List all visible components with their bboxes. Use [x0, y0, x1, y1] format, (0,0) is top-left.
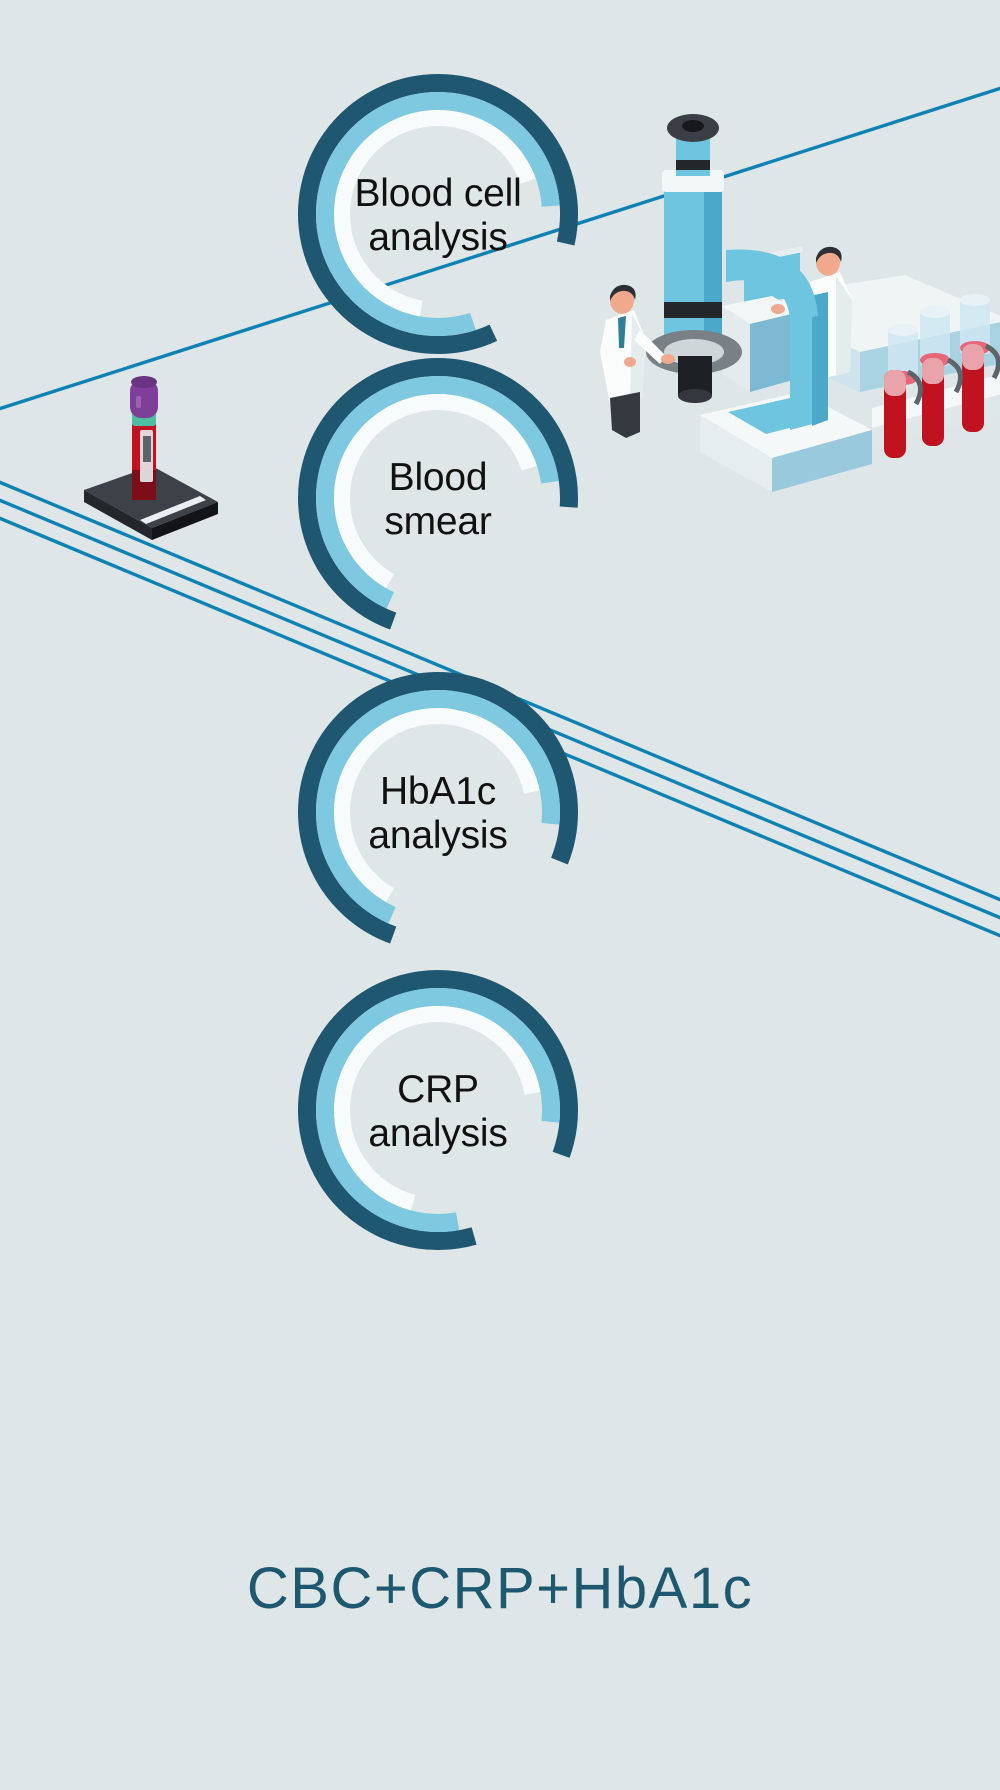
page-title: CBC+CRP+HbA1c [0, 1555, 1000, 1622]
microscope-objective-cap [678, 389, 712, 403]
blood-tube-cap-top [131, 376, 157, 388]
beaker-1-rim [888, 324, 918, 336]
beaker-2-rim [920, 306, 950, 318]
blood-tube-2-top [922, 358, 944, 384]
scientist-left-hand-back [624, 357, 636, 367]
blood-tube-cap-slot [136, 396, 141, 408]
blood-tube-1-top [884, 370, 906, 396]
scientist-left-trouser [610, 392, 640, 438]
infographic-artwork [0, 0, 1000, 1790]
beaker-3-rim [960, 294, 990, 306]
microscope-eyepiece-lens [682, 120, 704, 132]
scientist-right-hand [771, 304, 785, 314]
background [0, 0, 1000, 1790]
scientist-left-hand-front [661, 354, 675, 364]
infographic-canvas: Blood cell analysis Blood smear HbA1c an… [0, 0, 1000, 1790]
blood-tube-label-bar [143, 436, 151, 462]
blood-tube-3-top [962, 344, 984, 370]
microscope-eyepiece-band [676, 160, 710, 170]
microscope-lower-band [664, 302, 722, 318]
